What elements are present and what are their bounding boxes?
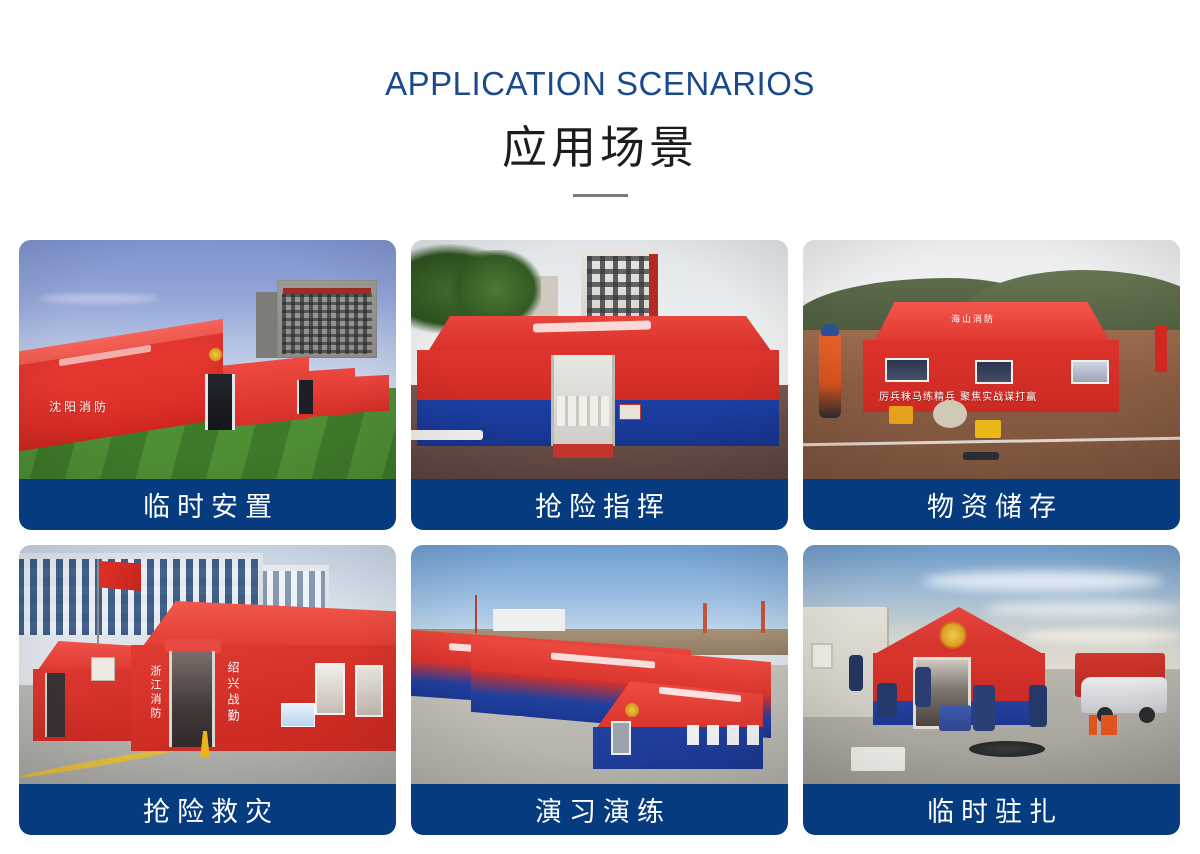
page-title-english: APPLICATION SCENARIOS <box>0 64 1200 104</box>
scenario-grid: 沈阳消防 临时安置 <box>19 240 1181 835</box>
photo-overlay-text-1: 沈阳消防 <box>49 398 109 415</box>
scenario-card-drills-training[interactable]: 演习演练 <box>411 545 788 835</box>
scenario-caption-disaster-relief: 抢险救灾 <box>19 784 396 835</box>
scenario-card-disaster-relief[interactable]: 浙江消防 绍兴战勤 抢险救灾 <box>19 545 396 835</box>
header-divider <box>573 194 628 197</box>
scenario-photo-camp-with-crew <box>803 545 1180 785</box>
scenario-caption-supplies-storage: 物资储存 <box>803 479 1180 530</box>
scenario-caption-drills-training: 演习演练 <box>411 784 788 835</box>
scenario-photo-office-yard-tents: 浙江消防 绍兴战勤 <box>19 545 396 785</box>
photo-roof-text-3: 海山消防 <box>951 312 995 325</box>
application-scenarios-page: APPLICATION SCENARIOS 应用场景 <box>0 0 1200 854</box>
scenario-caption-rescue-command: 抢险指挥 <box>411 479 788 530</box>
scenario-card-temporary-resettlement[interactable]: 沈阳消防 临时安置 <box>19 240 396 530</box>
scenario-caption-temporary-stationing: 临时驻扎 <box>803 784 1180 835</box>
photo-vertical-text-4b: 绍兴战勤 <box>225 661 242 725</box>
scenario-card-temporary-stationing[interactable]: 临时驻扎 <box>803 545 1180 835</box>
page-header: APPLICATION SCENARIOS 应用场景 <box>0 0 1200 197</box>
scenario-caption-temporary-resettlement: 临时安置 <box>19 479 396 530</box>
scenario-card-rescue-command[interactable]: 抢险指挥 <box>411 240 788 530</box>
scenario-photo-command-tent <box>411 240 788 480</box>
fire-emblem-icon <box>939 621 967 649</box>
scenario-photo-tent-array-field <box>411 545 788 785</box>
scenario-card-supplies-storage[interactable]: 海山消防 厉兵秣马练精兵 聚焦实战谋打赢 物资储存 <box>803 240 1180 530</box>
page-title-chinese: 应用场景 <box>0 120 1200 176</box>
photo-banner-text-3: 厉兵秣马练精兵 聚焦实战谋打赢 <box>879 388 1101 403</box>
scenario-photo-mountain-site-tent: 海山消防 厉兵秣马练精兵 聚焦实战谋打赢 <box>803 240 1180 480</box>
photo-vertical-text-4a: 浙江消防 <box>147 665 163 721</box>
scenario-photo-green-field-tents: 沈阳消防 <box>19 240 396 480</box>
